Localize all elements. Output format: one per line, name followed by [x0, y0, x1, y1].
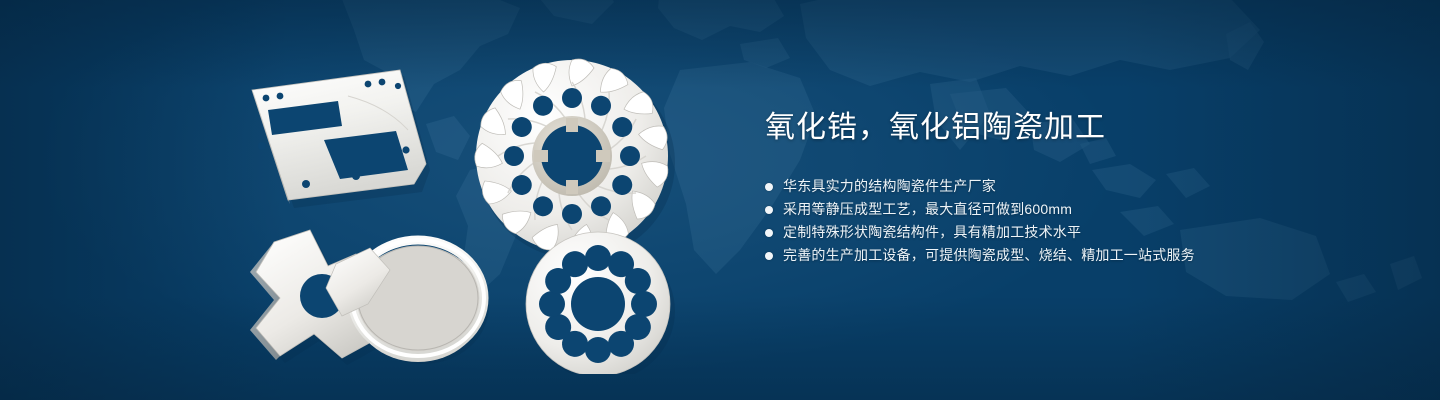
bullet-dot-icon	[765, 252, 773, 260]
list-item: 采用等静压成型工艺，最大直径可做到600mm	[765, 198, 1385, 221]
banner-headline: 氧化锆，氧化铝陶瓷加工	[765, 108, 1385, 148]
bullet-text: 采用等静压成型工艺，最大直径可做到600mm	[783, 198, 1072, 221]
list-item: 定制特殊形状陶瓷结构件，具有精加工技术水平	[765, 221, 1385, 244]
bullet-text: 华东具实力的结构陶瓷件生产厂家	[783, 175, 996, 198]
list-item: 华东具实力的结构陶瓷件生产厂家	[765, 175, 1385, 198]
promo-banner: 氧化锆，氧化铝陶瓷加工 华东具实力的结构陶瓷件生产厂家 采用等静压成型工艺，最大…	[0, 0, 1440, 400]
bullet-dot-icon	[765, 229, 773, 237]
list-item: 完善的生产加工设备，可提供陶瓷成型、烧结、精加工一站式服务	[765, 244, 1385, 267]
banner-copy: 氧化锆，氧化铝陶瓷加工 华东具实力的结构陶瓷件生产厂家 采用等静压成型工艺，最大…	[765, 108, 1385, 267]
bullet-text: 定制特殊形状陶瓷结构件，具有精加工技术水平	[783, 221, 1081, 244]
ceramic-impeller-part	[473, 58, 675, 259]
ceramic-products-image	[228, 34, 698, 374]
ceramic-perforated-disc-part	[526, 232, 675, 374]
bullet-dot-icon	[765, 206, 773, 214]
banner-feature-list: 华东具实力的结构陶瓷件生产厂家 采用等静压成型工艺，最大直径可做到600mm 定…	[765, 175, 1385, 267]
bullet-text: 完善的生产加工设备，可提供陶瓷成型、烧结、精加工一站式服务	[783, 244, 1195, 267]
ceramic-plate-part	[252, 70, 430, 208]
bullet-dot-icon	[765, 183, 773, 191]
